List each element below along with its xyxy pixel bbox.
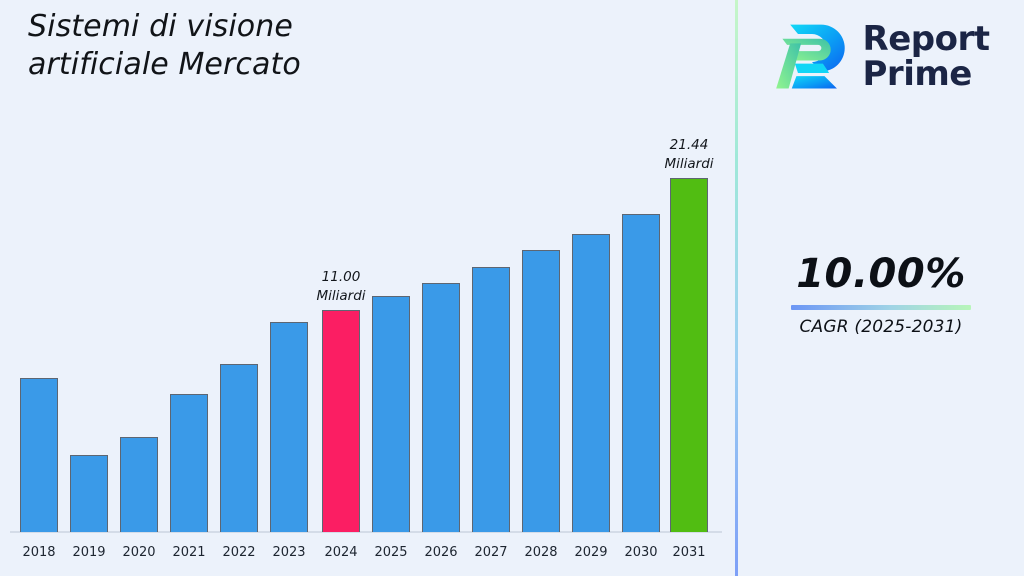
brand-name-line1: Report xyxy=(863,22,990,57)
brand-wordmark: Report Prime xyxy=(863,22,990,91)
bar-2028 xyxy=(522,250,560,532)
bar-2021 xyxy=(170,394,208,532)
bar-2026 xyxy=(422,283,460,532)
bar-2023 xyxy=(270,322,308,532)
x-tick-2031: 2031 xyxy=(659,545,719,560)
bar-value-label-2024: 11.00 Miliardi xyxy=(284,268,398,306)
bar-2018 xyxy=(20,378,58,532)
bar-2025 xyxy=(372,296,410,532)
bar-2022 xyxy=(220,364,258,532)
bar-2024 xyxy=(322,310,360,532)
cagr-caption: CAGR (2025-2031) xyxy=(738,317,1024,337)
brand-name-line2: Prime xyxy=(863,57,990,92)
brand-logo: Report Prime xyxy=(738,12,1024,102)
cagr-divider xyxy=(791,305,971,310)
plot-area: 11.00 Miliardi21.44 Miliardi 20182019202… xyxy=(0,0,736,576)
bar-2031 xyxy=(670,178,708,532)
bar-2020 xyxy=(120,437,158,532)
side-panel: Report Prime 10.00% CAGR (2025-2031) xyxy=(738,0,1024,576)
x-tick-2023: 2023 xyxy=(259,545,319,560)
cagr-block: 10.00% CAGR (2025-2031) xyxy=(738,252,1024,337)
chart-screenshot: Sistemi di visione artificiale Mercato 1… xyxy=(0,0,1024,576)
cagr-value: 10.00% xyxy=(738,252,1024,296)
x-axis-line xyxy=(10,531,722,533)
bar-2029 xyxy=(572,234,610,532)
bar-2019 xyxy=(70,455,108,532)
bar-2030 xyxy=(622,214,660,532)
bar-value-label-2031: 21.44 Miliardi xyxy=(632,136,746,174)
report-prime-r-logo-icon xyxy=(773,20,851,94)
chart-panel: Sistemi di visione artificiale Mercato 1… xyxy=(0,0,736,576)
bar-2027 xyxy=(472,267,510,532)
